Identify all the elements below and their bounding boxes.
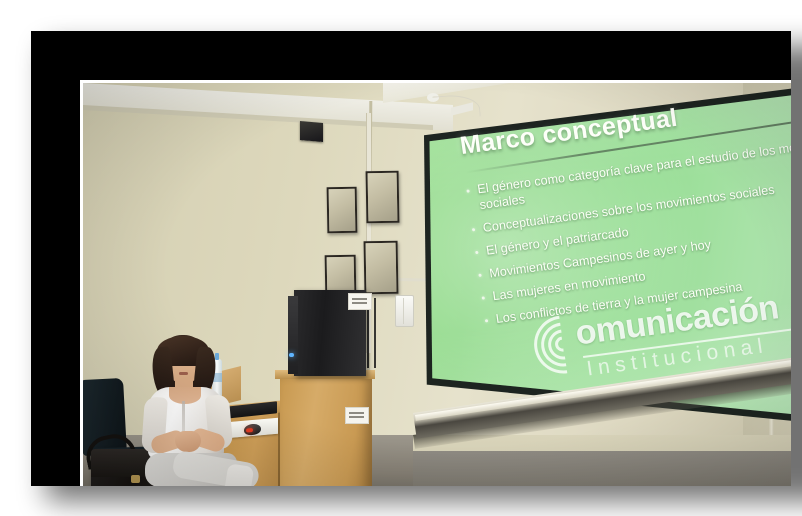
presentation-photograph: Marco conceptual El género como categorí… [83, 83, 791, 486]
photo-black-frame: Marco conceptual El género como categorí… [31, 31, 791, 486]
wall-speaker-icon [300, 121, 323, 142]
page-canvas: Marco conceptual El género como categorí… [0, 0, 802, 516]
seated-presenter [115, 335, 275, 486]
framed-picture [327, 187, 358, 234]
framed-picture [364, 241, 399, 295]
mouth [179, 372, 188, 375]
slide-title: Marco conceptual [458, 104, 679, 161]
power-led-icon [289, 353, 294, 357]
tower-front-panel [288, 296, 298, 374]
clasped-hands [175, 431, 201, 452]
wooden-podium [280, 375, 372, 486]
podium-asset-label [345, 407, 369, 424]
tower-asset-label [348, 293, 372, 310]
collar [169, 387, 201, 404]
